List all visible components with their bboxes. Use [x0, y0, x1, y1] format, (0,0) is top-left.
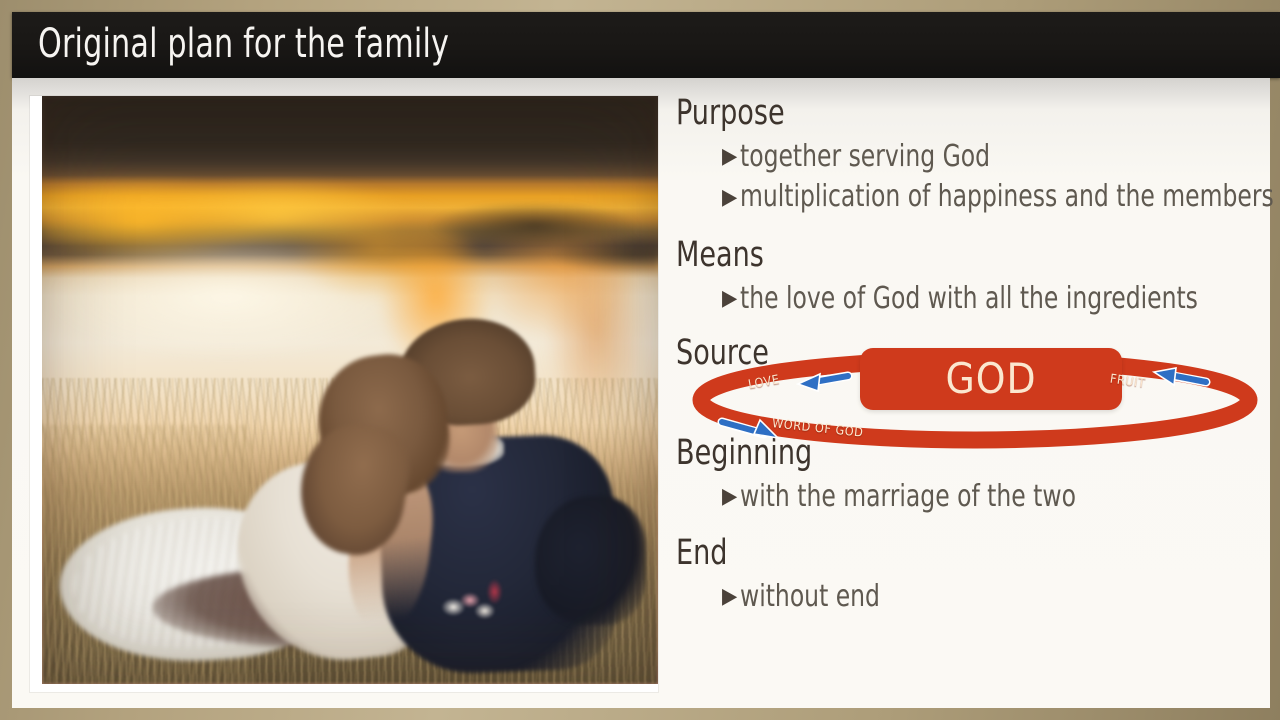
section-end: End ▶ without end: [676, 536, 901, 613]
photo-frame: [30, 96, 658, 692]
bullet-text: without end: [740, 581, 880, 613]
bullet-marker-icon: ▶: [722, 486, 737, 508]
bullet-item: ▶ with the marriage of the two: [722, 481, 1126, 513]
bullet-marker-icon: ▶: [722, 146, 737, 168]
section-means: Means ▶ the love of God with all the ing…: [676, 238, 1267, 315]
bullet-text: the love of God with all the ingredients: [740, 283, 1198, 315]
section-beginning: Beginning ▶ with the marriage of the two: [676, 436, 1126, 513]
bullet-item: ▶ without end: [722, 581, 901, 613]
section-heading-source: Source: [676, 336, 784, 371]
photo-vignette: [42, 96, 658, 684]
god-center-box: GOD: [860, 348, 1122, 410]
section-heading-means: Means: [676, 238, 1267, 273]
bullet-marker-icon: ▶: [722, 288, 737, 310]
bullet-text: multiplication of happiness and the memb…: [740, 181, 1274, 213]
arrow-love-icon: [798, 374, 848, 391]
couple-sunset-photo: [42, 96, 658, 684]
flow-label-fruit: FRUIT: [1109, 371, 1146, 391]
section-heading-beginning: Beginning: [676, 436, 1126, 471]
section-heading-end: End: [676, 536, 901, 571]
bullet-item: ▶ multiplication of happiness and the me…: [722, 181, 1280, 213]
section-source: Source: [676, 336, 784, 371]
page-title: Original plan for the family: [38, 21, 527, 67]
bullet-text: together serving God: [740, 141, 990, 173]
god-label: GOD: [945, 358, 1036, 400]
bullet-marker-icon: ▶: [722, 586, 737, 608]
section-purpose: Purpose ▶ together serving God ▶ multipl…: [676, 96, 1280, 214]
slide-title-bar: Original plan for the family: [12, 12, 1280, 78]
flow-label-love: LOVE: [747, 371, 781, 391]
bullet-item: ▶ the love of God with all the ingredien…: [722, 283, 1267, 315]
bullet-item: ▶ together serving God: [722, 141, 1280, 173]
arrow-fruit-icon: [1154, 368, 1206, 385]
red-cycle-ellipse: [701, 360, 1249, 440]
page-title-text: Original plan for the family: [38, 21, 449, 67]
slide-canvas: Original plan for the family: [0, 0, 1280, 720]
section-heading-purpose: Purpose: [676, 96, 1280, 131]
slide-body-panel: Purpose ▶ together serving God ▶ multipl…: [12, 78, 1270, 708]
content-column: Purpose ▶ together serving God ▶ multipl…: [668, 96, 1260, 692]
bullet-text: with the marriage of the two: [740, 481, 1076, 513]
bullet-marker-icon: ▶: [722, 187, 737, 209]
